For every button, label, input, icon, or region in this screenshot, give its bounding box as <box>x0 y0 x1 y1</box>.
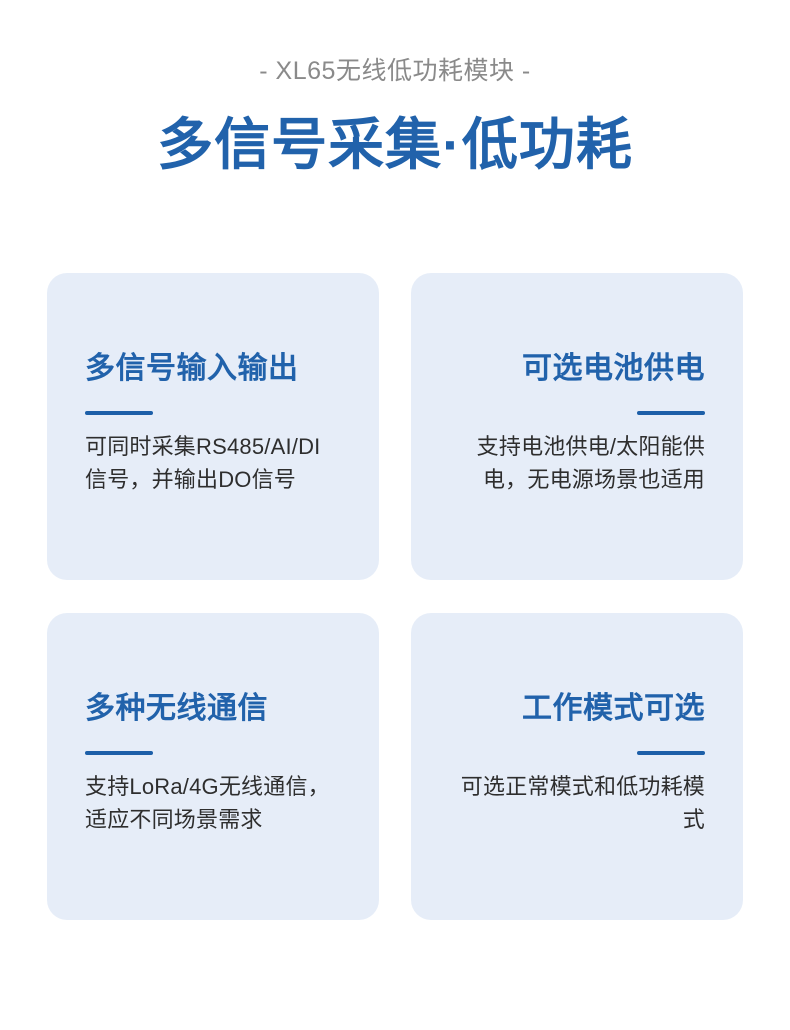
feature-card-description: 支持电池供电/太阳能供电，无电源场景也适用 <box>449 430 705 496</box>
feature-card-title: 可选电池供电 <box>522 350 705 388</box>
feature-card-multi-signal-io: 多信号输入输出 可同时采集RS485/AI/DI信号，并输出DO信号 <box>47 273 379 580</box>
feature-card-description: 可选正常模式和低功耗模式 <box>449 770 705 836</box>
feature-card-description: 可同时采集RS485/AI/DI信号，并输出DO信号 <box>85 430 341 496</box>
feature-card-grid: 多信号输入输出 可同时采集RS485/AI/DI信号，并输出DO信号 可选电池供… <box>47 273 743 920</box>
feature-card-title: 多种无线通信 <box>85 690 268 728</box>
product-feature-page: - XL65无线低功耗模块 - 多信号采集·低功耗 多信号输入输出 可同时采集R… <box>0 0 790 1030</box>
title-divider <box>85 411 153 415</box>
feature-card-working-mode: 工作模式可选 可选正常模式和低功耗模式 <box>411 613 743 920</box>
feature-card-wireless-communication: 多种无线通信 支持LoRa/4G无线通信，适应不同场景需求 <box>47 613 379 920</box>
title-divider <box>637 751 705 755</box>
page-title: 多信号采集·低功耗 <box>0 110 790 180</box>
feature-card-title: 工作模式可选 <box>522 690 705 728</box>
title-divider <box>85 751 153 755</box>
title-divider <box>637 411 705 415</box>
feature-card-description: 支持LoRa/4G无线通信，适应不同场景需求 <box>85 770 341 836</box>
page-subtitle: - XL65无线低功耗模块 - <box>0 54 790 88</box>
page-header: - XL65无线低功耗模块 - 多信号采集·低功耗 <box>0 54 790 180</box>
feature-card-title: 多信号输入输出 <box>85 350 299 388</box>
feature-card-battery-power: 可选电池供电 支持电池供电/太阳能供电，无电源场景也适用 <box>411 273 743 580</box>
